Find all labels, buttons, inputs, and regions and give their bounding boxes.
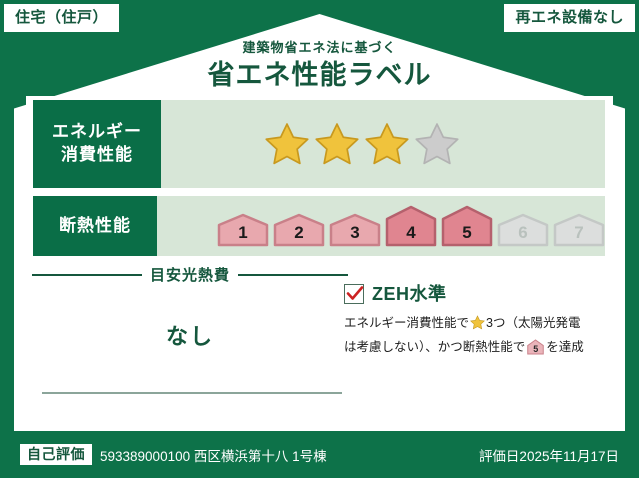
property-id-and-name: 593389000100 西区横浜第十八 1号棟 <box>100 445 327 465</box>
energy-performance-body <box>161 121 605 167</box>
zeh-desc-part2: は考慮しない）、かつ断熱性能で <box>344 340 525 354</box>
insulation-level-value: 3 <box>329 224 381 241</box>
zeh-block: ZEH水準 エネルギー消費性能で 3つ（太陽光発電 は考慮しない）、かつ断熱性能… <box>344 284 612 357</box>
title-main: 省エネ性能ラベル <box>0 60 639 91</box>
energy-performance-label: 住宅（住戸） 再エネ設備なし 建築物省エネ法に基づく 省エネ性能ラベル エネルギ… <box>0 0 639 478</box>
utility-cost-heading: 目安光熱費 <box>32 264 348 285</box>
energy-label-line2: 消費性能 <box>61 144 133 167</box>
zeh-desc-stars: 3つ（太陽光発電 <box>486 316 580 330</box>
insulation-level-value: 6 <box>497 224 549 241</box>
title-block: 建築物省エネ法に基づく 省エネ性能ラベル <box>0 40 639 91</box>
zeh-desc-part3: を達成 <box>546 340 584 354</box>
title-subtitle: 建築物省エネ法に基づく <box>0 40 639 56</box>
insulation-level-6: 6 <box>497 213 549 247</box>
footer-bar: 自己評価 593389000100 西区横浜第十八 1号棟 評価日2025年11… <box>0 431 639 478</box>
insulation-label-line1: 断熱性能 <box>59 215 131 238</box>
insulation-level-2: 2 <box>273 213 325 247</box>
check-icon <box>346 285 364 303</box>
insulation-level-5: 5 <box>441 205 493 247</box>
zeh-title: ZEH水準 <box>372 285 447 303</box>
insulation-level-value: 4 <box>385 224 437 241</box>
utility-cost-title: 目安光熱費 <box>150 264 230 285</box>
insulation-badge-icon: 5 <box>527 339 544 355</box>
utility-cost-block: 目安光熱費 なし <box>32 264 348 351</box>
insulation-performance-body: 1234567 <box>157 205 605 247</box>
insulation-level-scale: 1234567 <box>217 205 605 247</box>
star-icon-filled <box>363 121 411 167</box>
insulation-level-value: 1 <box>217 224 269 241</box>
rule-right <box>238 274 348 276</box>
energy-performance-label: エネルギー 消費性能 <box>33 100 161 188</box>
insulation-level-7: 7 <box>553 213 605 247</box>
insulation-performance-label: 断熱性能 <box>33 196 157 256</box>
insulation-level-3: 3 <box>329 213 381 247</box>
zeh-checkbox[interactable] <box>344 284 364 304</box>
zeh-desc-part1: エネルギー消費性能で <box>344 316 469 330</box>
utility-cost-underline <box>42 392 342 394</box>
lower-section: 目安光熱費 なし ZEH水準 エネルギー消費性能で <box>26 264 613 414</box>
self-evaluation-badge: 自己評価 <box>20 444 92 465</box>
insulation-level-4: 4 <box>385 205 437 247</box>
star-icon-empty <box>413 121 461 167</box>
star-icon-filled <box>263 121 311 167</box>
energy-label-line1: エネルギー <box>52 121 142 144</box>
insulation-level-value: 7 <box>553 224 605 241</box>
rule-left <box>32 274 142 276</box>
star-rating <box>263 121 461 167</box>
badge-building-type: 住宅（住戸） <box>4 4 119 32</box>
star-icon-filled <box>313 121 361 167</box>
evaluation-date: 評価日2025年11月17日 <box>479 445 619 465</box>
insulation-performance-row: 断熱性能 1234567 <box>33 196 605 256</box>
insulation-badge-value: 5 <box>527 345 544 354</box>
insulation-level-value: 5 <box>441 224 493 241</box>
zeh-header: ZEH水準 <box>344 284 612 304</box>
badge-renewable-energy: 再エネ設備なし <box>504 4 635 32</box>
utility-cost-value: なし <box>32 319 348 351</box>
zeh-description: エネルギー消費性能で 3つ（太陽光発電 は考慮しない）、かつ断熱性能で 5を達成 <box>344 313 612 357</box>
insulation-level-1: 1 <box>217 213 269 247</box>
insulation-level-value: 2 <box>273 224 325 241</box>
star-icon-inline <box>470 315 485 337</box>
energy-performance-row: エネルギー 消費性能 <box>33 100 605 188</box>
label-card: エネルギー 消費性能 断熱性能 1234567 目安光熱費 <box>26 96 613 416</box>
